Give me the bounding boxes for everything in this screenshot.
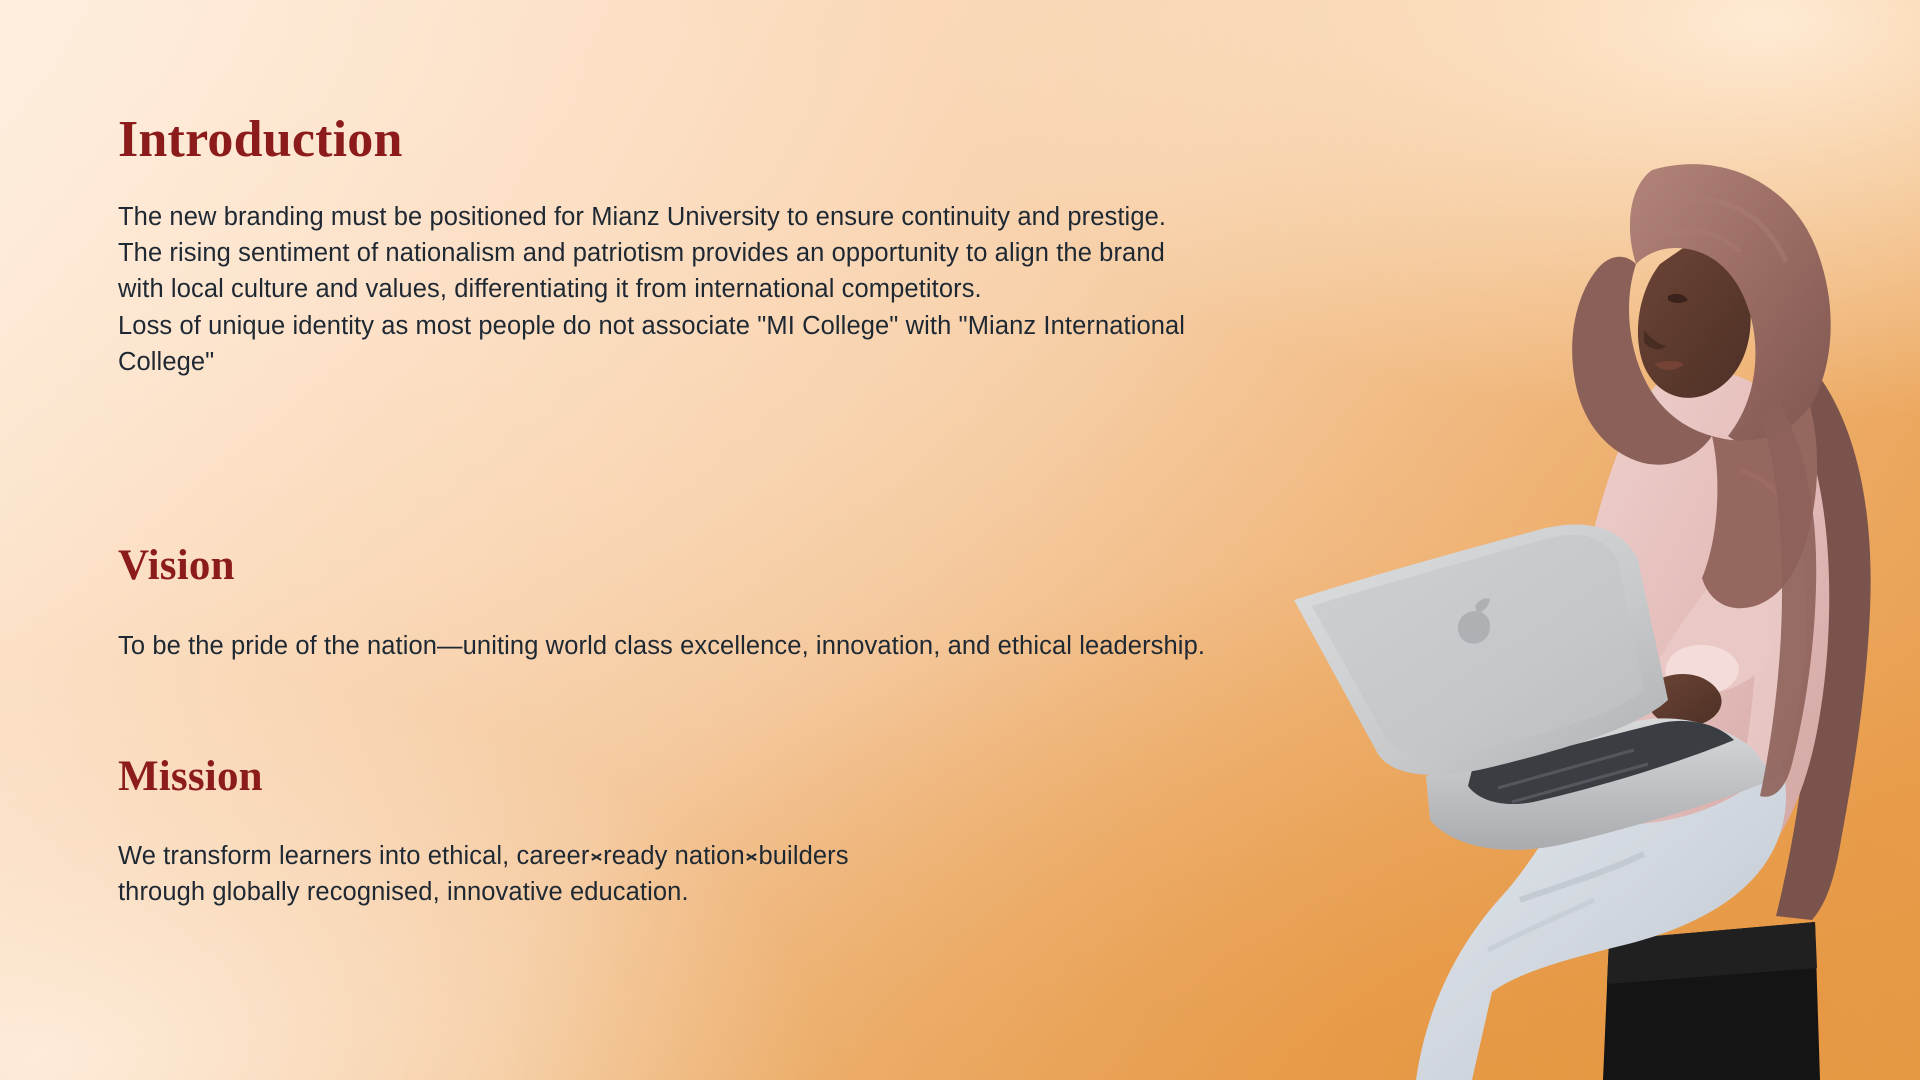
slide-canvas: Introduction The new branding must be po… <box>0 0 1920 1080</box>
missing-glyph-icon-1 <box>590 849 603 865</box>
mission-segment-3: builders <box>758 842 848 870</box>
vision-line-1: To be the pride of the nation—uniting wo… <box>118 628 1218 664</box>
introduction-heading: Introduction <box>118 114 403 166</box>
mission-line-1: We transform learners into ethical, care… <box>118 838 1218 874</box>
introduction-line-3: Loss of unique identity as most people d… <box>118 308 1210 380</box>
mission-segment-1: We transform learners into ethical, care… <box>118 842 589 870</box>
vision-heading: Vision <box>118 544 235 587</box>
missing-glyph-icon-2 <box>745 849 758 865</box>
mission-body: We transform learners into ethical, care… <box>118 838 1218 910</box>
mission-line-2: through globally recognised, innovative … <box>118 874 1218 910</box>
text-content-column: Introduction The new branding must be po… <box>118 0 1228 1080</box>
introduction-body: The new branding must be positioned for … <box>118 199 1210 380</box>
vision-body: To be the pride of the nation—uniting wo… <box>118 628 1218 664</box>
introduction-line-2: The rising sentiment of nationalism and … <box>118 235 1210 307</box>
mission-segment-2: ready nation <box>603 842 745 870</box>
mission-heading: Mission <box>118 755 263 798</box>
introduction-line-1: The new branding must be positioned for … <box>118 199 1210 235</box>
